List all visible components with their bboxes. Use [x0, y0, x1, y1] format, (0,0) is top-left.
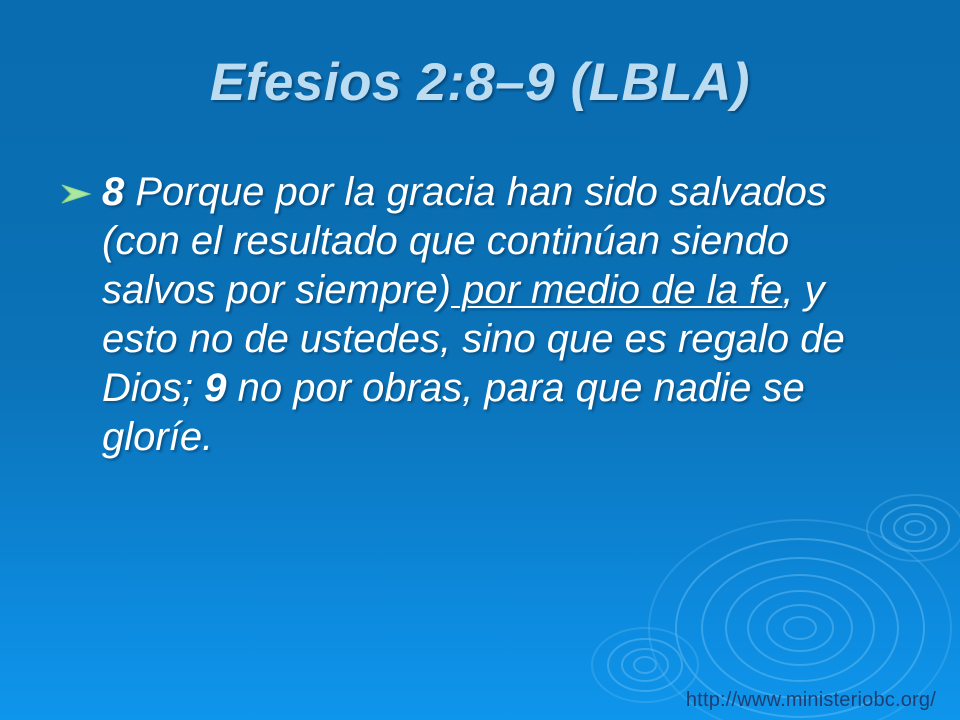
ripple-small-upper — [867, 495, 960, 561]
scripture-text: 8 Porque por la gracia han sido salvados… — [102, 170, 845, 459]
presentation-slide: Efesios 2:8–9 (LBLA) 8 Porque por la gra… — [0, 0, 960, 720]
verse-emphasis-por-medio-de-la-fe: por medio de la fe — [451, 268, 782, 312]
arrow-bullet-icon — [60, 180, 94, 208]
verse-number-9: 9 — [204, 366, 226, 410]
slide-title: Efesios 2:8–9 (LBLA) — [210, 52, 750, 113]
ripple-small-lower — [592, 628, 698, 702]
title-placeholder: Efesios 2:8–9 (LBLA) — [0, 52, 960, 113]
bullet-list-item: 8 Porque por la gracia han sido salvados… — [58, 168, 908, 462]
content-placeholder: 8 Porque por la gracia han sido salvados… — [58, 168, 908, 462]
footer-url[interactable]: http://www.ministeriobc.org/ — [686, 689, 936, 712]
verse-number-8: 8 — [102, 170, 124, 214]
